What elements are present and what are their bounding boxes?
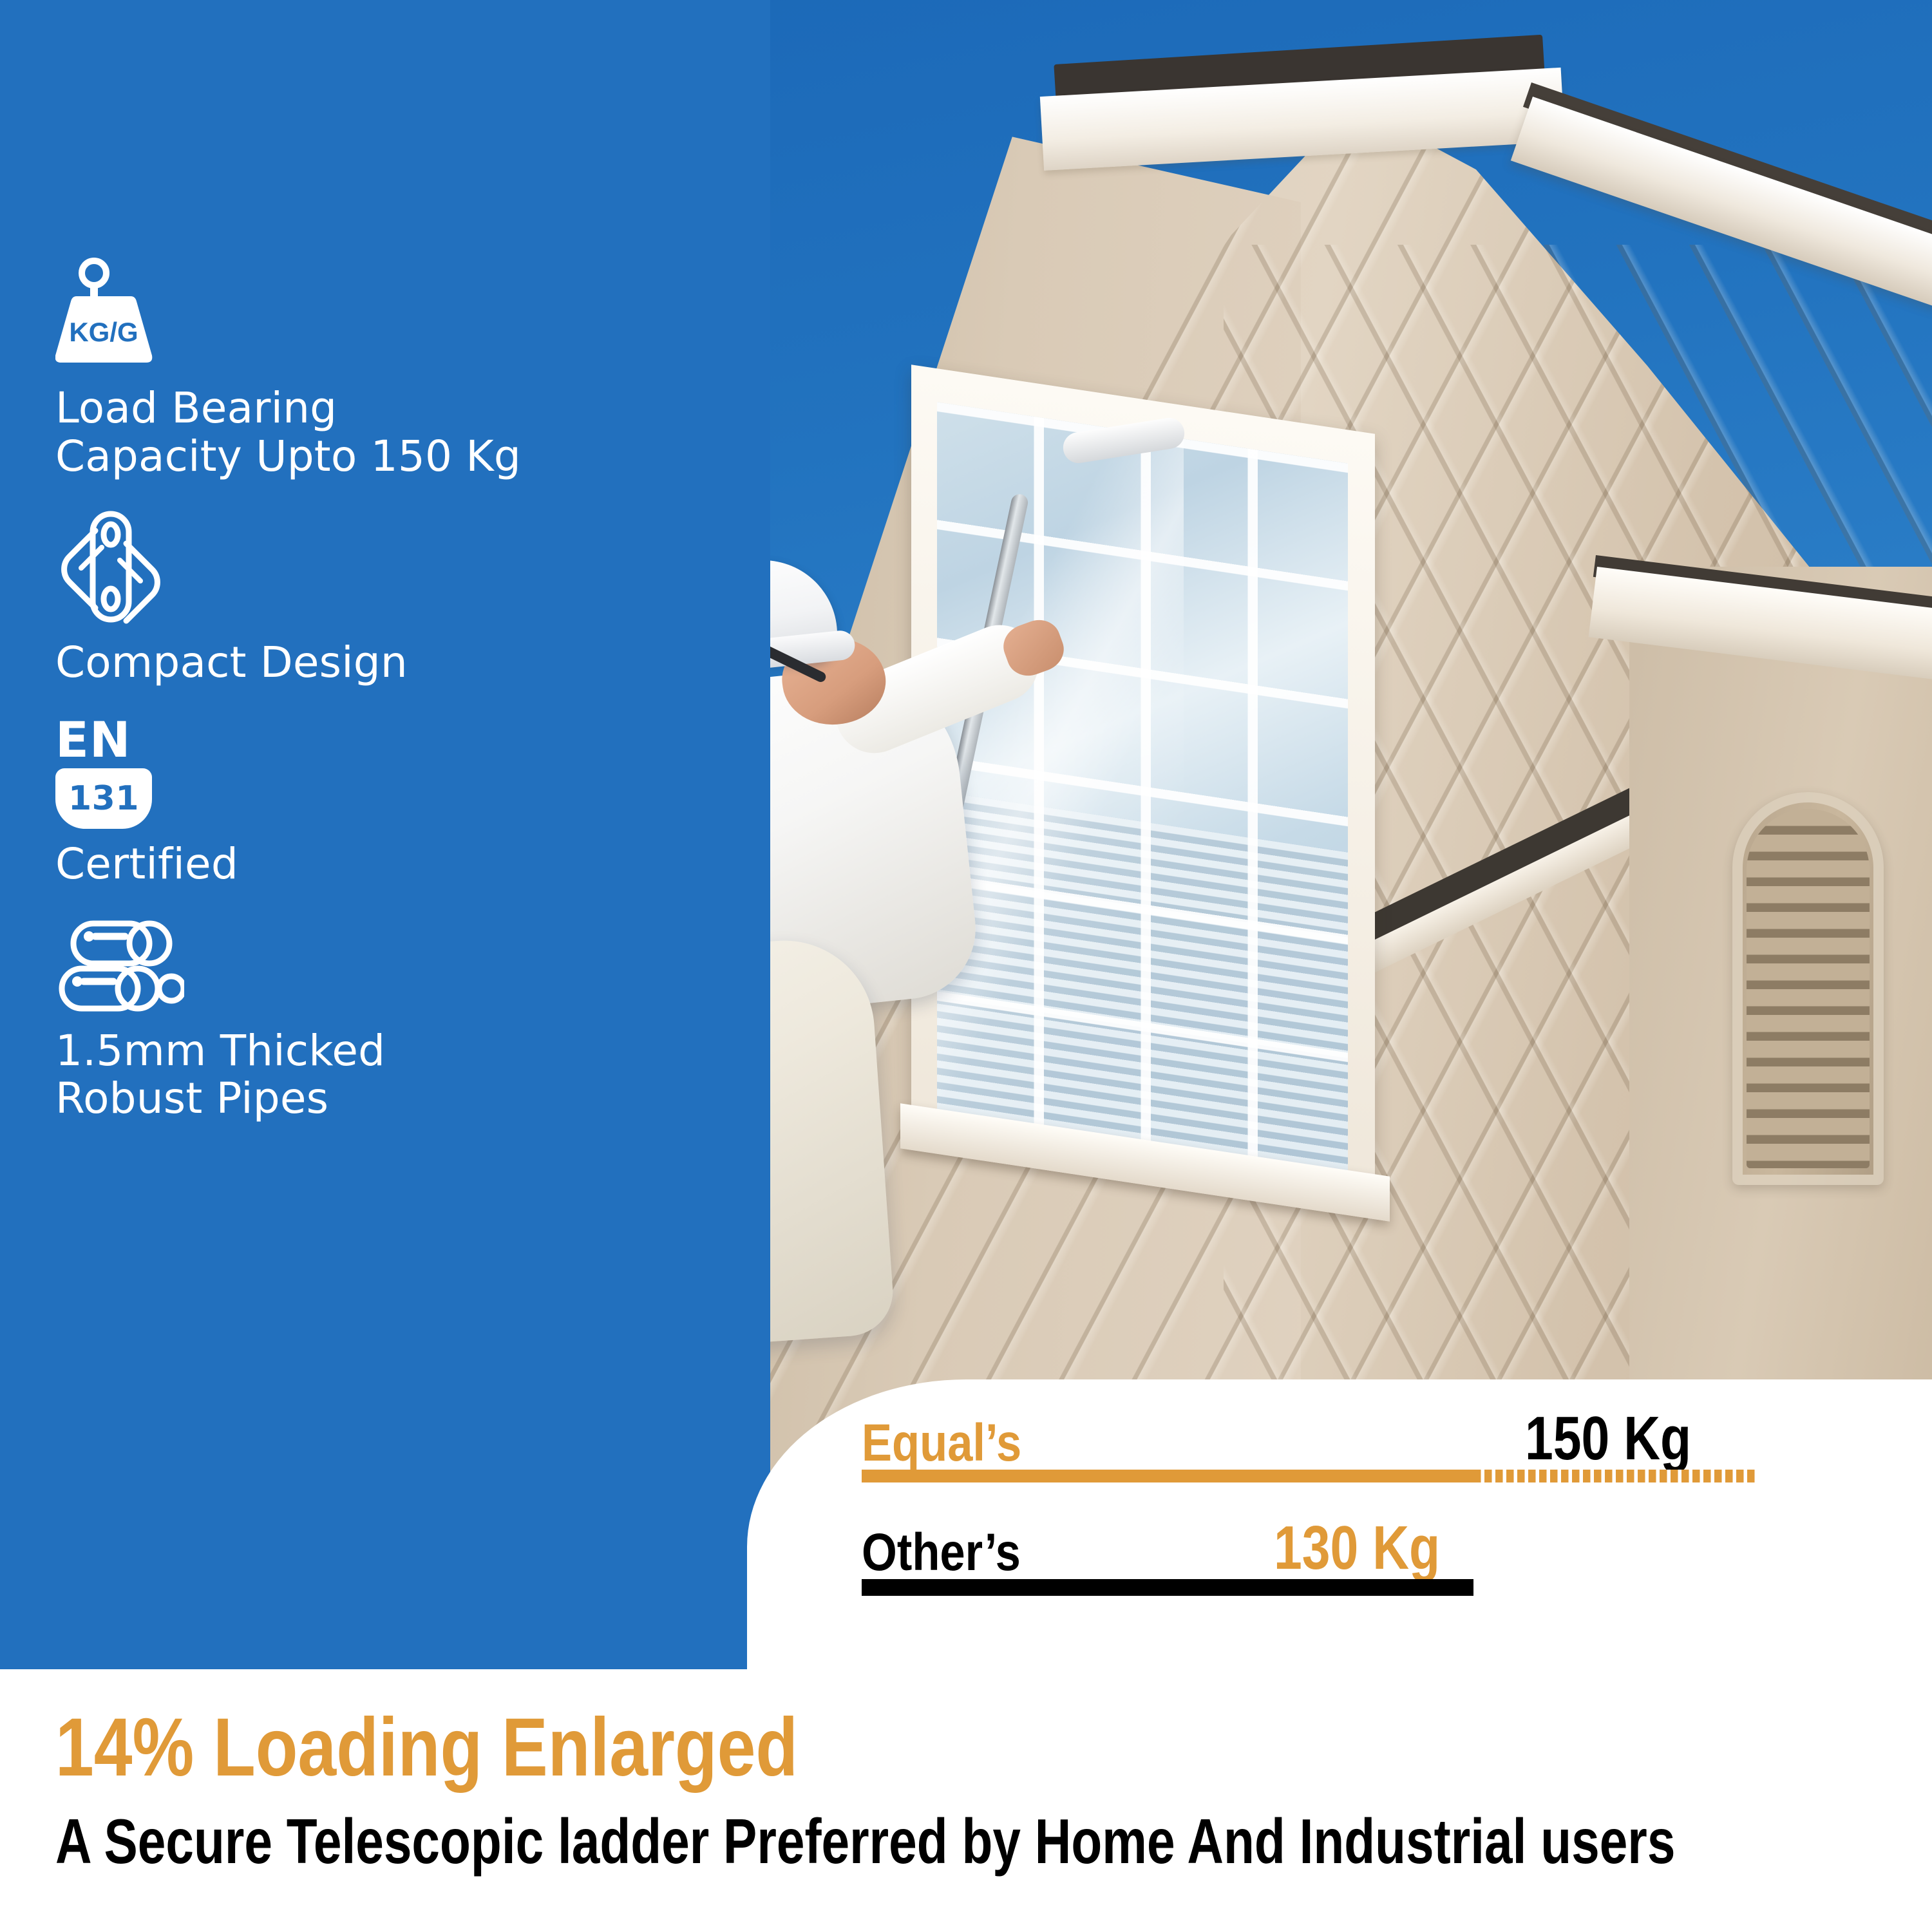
caption-band: 14% Loading Enlarged A Secure Telescopic… (0, 1669, 1932, 1932)
vent-louvers (1747, 809, 1870, 1168)
comparison-value-others: 130 Kg (1274, 1517, 1440, 1579)
comparison-bar-equals (862, 1470, 1757, 1484)
feature-item-certified: EN 131 Certified (55, 717, 732, 889)
comparison-label-others: Other’s (862, 1526, 1021, 1579)
comparison-value-equals: 150 Kg (1525, 1408, 1691, 1470)
weight-kg-icon: KG/G (55, 258, 732, 373)
folding-hinge-icon (55, 509, 732, 627)
bar-segment-solid (862, 1470, 1473, 1482)
en131-badge-icon: EN 131 (55, 717, 178, 829)
bar-segment-dotted (1473, 1470, 1757, 1482)
feature-label-robust-pipes: 1.5mm Thicked Robust Pipes (55, 1027, 732, 1123)
comparison-row-header: Other’s 130 Kg (862, 1504, 1870, 1579)
bar-segment-solid (862, 1579, 1473, 1596)
caption-subline: A Secure Telescopic ladder Preferred by … (55, 1810, 1675, 1873)
comparison-row-equals: Equal’s 150 Kg (862, 1395, 1870, 1504)
feature-item-load-bearing: KG/G Load Bearing Capacity Upto 150 Kg (55, 258, 732, 480)
feature-label-compact-design: Compact Design (55, 639, 732, 687)
feature-label-load-bearing: Load Bearing Capacity Upto 150 Kg (55, 384, 732, 480)
svg-text:KG/G: KG/G (69, 317, 138, 347)
feature-item-robust-pipes: 1.5mm Thicked Robust Pipes (55, 920, 732, 1123)
en-standard-text: EN (55, 717, 178, 763)
product-infographic-canvas: KG/G Load Bearing Capacity Upto 150 Kg C… (0, 0, 1932, 1932)
feature-label-certified: Certified (55, 840, 732, 889)
caption-headline: 14% Loading Enlarged (55, 1707, 798, 1789)
stacked-pipes-icon (55, 920, 732, 1016)
feature-item-compact-design: Compact Design (55, 509, 732, 687)
comparison-panel: Equal’s 150 Kg Other’s 130 Kg (747, 1379, 1932, 1669)
gable-vent (1732, 792, 1884, 1185)
comparison-rows: Equal’s 150 Kg Other’s 130 Kg (862, 1395, 1870, 1614)
en-number-shield: 131 (55, 768, 152, 829)
comparison-bar-others (862, 1579, 1757, 1593)
comparison-label-equals: Equal’s (862, 1417, 1021, 1470)
comparison-row-header: Equal’s 150 Kg (862, 1395, 1870, 1470)
feature-list: KG/G Load Bearing Capacity Upto 150 Kg C… (55, 258, 732, 1123)
en-number-text: 131 (68, 779, 139, 818)
comparison-row-others: Other’s 130 Kg (862, 1504, 1870, 1614)
